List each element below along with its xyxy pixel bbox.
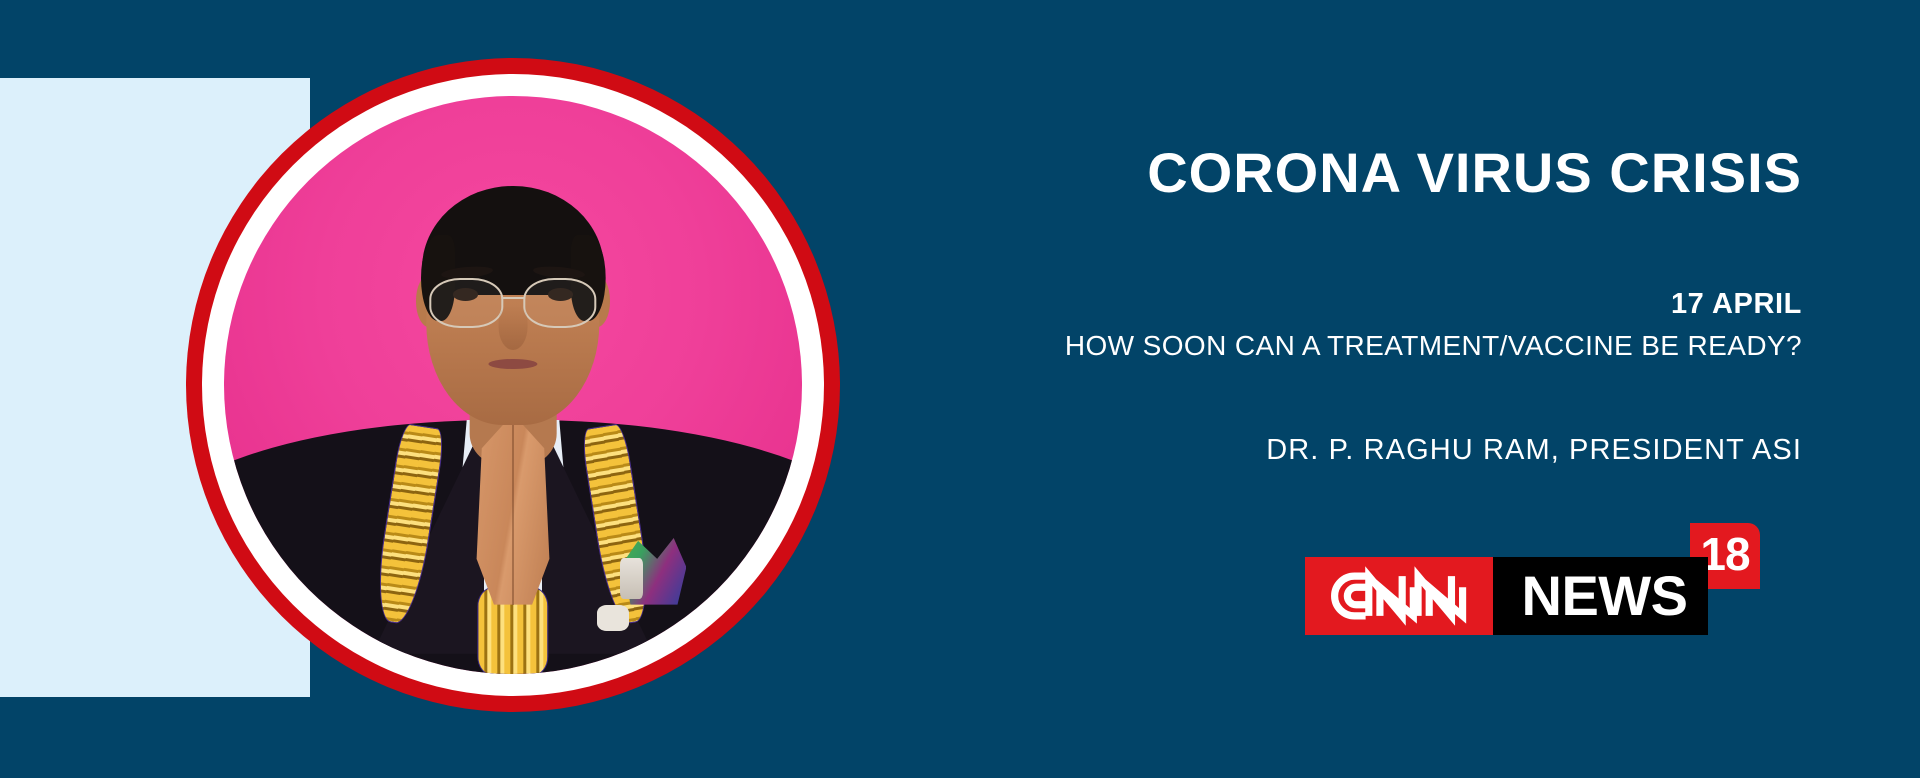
wristwatch bbox=[597, 605, 629, 631]
lens-left bbox=[430, 278, 503, 328]
portrait-circle bbox=[186, 58, 840, 712]
cnn-news18-logo: 18 NEWS bbox=[1305, 523, 1760, 641]
lapel-medal bbox=[620, 558, 643, 598]
portrait-photo bbox=[224, 96, 802, 674]
glasses-bridge bbox=[501, 297, 525, 299]
broadcast-lower-third-graphic: CORONA VIRUS CRISIS 17 APRIL HOW SOON CA… bbox=[0, 0, 1920, 778]
broadcast-date: 17 APRIL bbox=[1671, 288, 1802, 321]
cnn-mark-block bbox=[1305, 557, 1493, 635]
nose bbox=[499, 304, 528, 350]
portrait-figure bbox=[224, 96, 802, 674]
topic-question: HOW SOON CAN A TREATMENT/VACCINE BE READ… bbox=[1065, 330, 1802, 362]
speaker-name-title: DR. P. RAGHU RAM, PRESIDENT ASI bbox=[1266, 434, 1802, 467]
page-title: CORONA VIRUS CRISIS bbox=[1147, 145, 1802, 201]
cnn-logo-icon bbox=[1319, 565, 1479, 627]
news-wordmark: NEWS bbox=[1493, 557, 1708, 635]
lens-right bbox=[523, 278, 596, 328]
hand-split-line bbox=[512, 414, 514, 605]
